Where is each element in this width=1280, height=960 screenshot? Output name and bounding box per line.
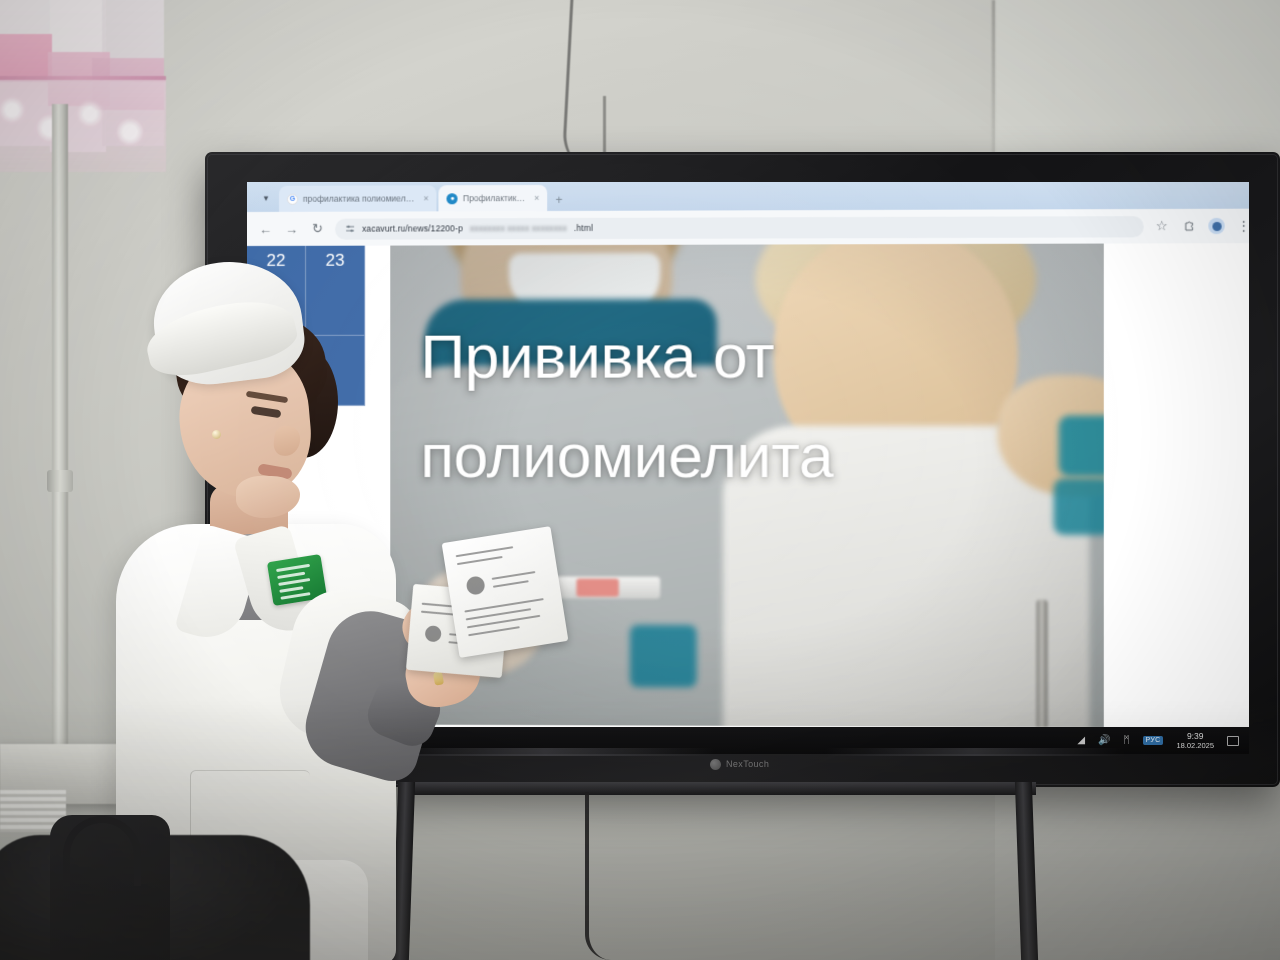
informational-brochure: [442, 526, 569, 658]
curtain-pink-band-left: [0, 34, 52, 82]
address-bar-url-suffix: .html: [574, 223, 593, 233]
brochure-text-line: [456, 546, 514, 557]
address-bar-url: xacavurt.ru/news/12200-p: [362, 223, 463, 233]
site-icon: ●: [447, 193, 458, 204]
browser-tabstrip[interactable]: ▾ G профилактика полиомиел… × ● Профилак…: [247, 182, 1249, 212]
pink-lace-curtain: [0, 0, 166, 174]
brochure-graphic: [465, 575, 486, 596]
brochure-page-front: [442, 526, 569, 658]
new-tab-button[interactable]: +: [555, 193, 562, 207]
forward-icon[interactable]: →: [283, 220, 300, 237]
address-bar-url-blurred: xxxxxxxx xxxxx xxxxxxxx: [470, 223, 567, 233]
brochure-text-line: [493, 580, 529, 588]
address-bar[interactable]: xacavurt.ru/news/12200-p xxxxxxxx xxxxx …: [335, 216, 1144, 240]
slide-caption: Прививка от полиомиелита: [390, 327, 1104, 488]
browser-tab-2-title: Профилактик…: [463, 193, 525, 203]
presenter-chin: [236, 476, 300, 518]
hanging-cable: [561, 0, 616, 175]
wall-pipe: [52, 104, 68, 804]
browser-menu-icon[interactable]: ⋮: [1235, 217, 1249, 234]
reload-icon[interactable]: ↻: [309, 220, 326, 237]
tab-search-icon[interactable]: ▾: [255, 187, 277, 209]
brochure-graphic: [424, 625, 441, 642]
brochure-text-line: [464, 598, 543, 612]
photo-scene: ▾ G профилактика полиомиел… × ● Профилак…: [0, 0, 1280, 960]
back-icon[interactable]: ←: [257, 220, 274, 237]
avatar: [1212, 221, 1221, 230]
extensions-puzzle-icon[interactable]: [1181, 217, 1198, 234]
browser-tab-2[interactable]: ● Профилактик… ×: [439, 185, 548, 211]
profile-avatar-icon[interactable]: [1208, 218, 1224, 234]
brochure-text-line: [492, 571, 536, 580]
close-icon[interactable]: ×: [423, 193, 428, 203]
toolbar-actions[interactable]: ☆ ⋮: [1153, 217, 1249, 235]
tune-icon[interactable]: [344, 223, 355, 234]
presenter-earring: [212, 430, 221, 439]
brochure-text-line: [457, 556, 503, 565]
close-icon[interactable]: ×: [534, 193, 539, 203]
browser-toolbar[interactable]: ← → ↻ xacavurt.ru/news/12200-p: [247, 209, 1249, 246]
brochure-text-line: [468, 626, 520, 636]
floor-shadow: [0, 700, 1280, 960]
bookmark-star-icon[interactable]: ☆: [1153, 218, 1170, 235]
google-icon: G: [287, 193, 298, 204]
wall-pipe-joint: [47, 470, 73, 492]
slide-caption-line-2: полиомиелита: [420, 426, 1103, 487]
browser-tab-1-title: профилактика полиомиел…: [303, 193, 414, 203]
slide-caption-line-1: Прививка от: [420, 322, 774, 392]
curtain-lace-hem: [0, 80, 166, 172]
browser-tab-1[interactable]: G профилактика полиомиел… ×: [279, 185, 437, 212]
